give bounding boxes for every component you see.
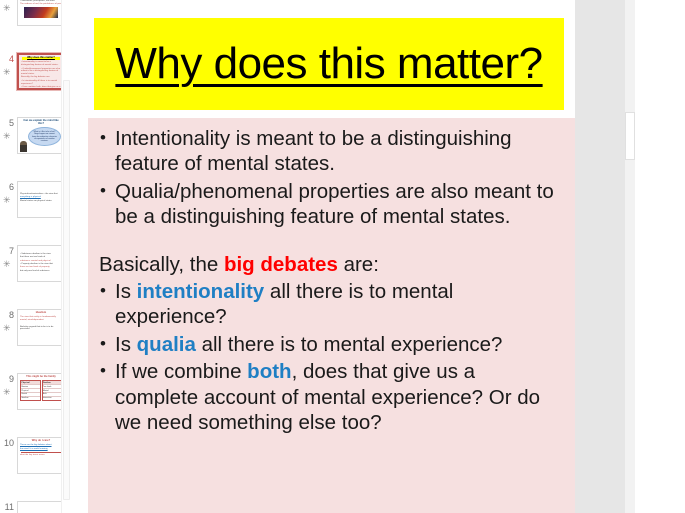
thumbnail-line: The redness of red, the painfulness of p… (20, 3, 62, 6)
list-item: • Qualia/phenomenal properties are also … (98, 179, 561, 230)
slide-number: 5 (2, 118, 14, 128)
bullet-post: all there is to mental experience? (196, 333, 503, 356)
thought-bubble-shape: What is it like to be a bat? Nagel argue… (28, 127, 61, 146)
bullet-marker: • (98, 126, 115, 150)
slide-number: 10 (2, 438, 14, 448)
bullet-pre: Is (115, 280, 137, 303)
thumbnail-image (24, 7, 58, 18)
animation-star-icon[interactable]: ✳ (3, 68, 11, 77)
lead-in-post: are: (338, 253, 379, 276)
slide-thumbnail[interactable]: Idealism The view that reality is fundam… (17, 309, 65, 346)
lead-in-pre: Basically, the (99, 253, 224, 276)
main-scrollbar-track[interactable] (625, 0, 635, 513)
thumbnail-line: The view that reality is fundamentally m… (20, 316, 62, 322)
thumbnail-line: but only one kind of substance (20, 270, 62, 273)
main-scrollbar-thumb[interactable] (625, 112, 635, 160)
table-cell: Interaction (43, 396, 62, 400)
list-item: • Is intentionality all there is to ment… (98, 279, 561, 330)
slide-thumbnail[interactable]: Why does this matter? Intentionality is … (17, 53, 65, 90)
slide-stage: Why does this matter? • Intentionality i… (70, 0, 685, 513)
table-cell: Idealism (21, 396, 40, 400)
thumbnail-content: Qualia What it's like to experience a Se… (18, 0, 64, 25)
thumbnail-table: Physical Monism Physical Mental Idealism… (20, 380, 62, 400)
list-item[interactable]: 11 Let's apply this to an A level Is it … (0, 500, 70, 513)
thumbnail-line: everything is physical (20, 196, 62, 199)
thumbnail-content: This might be the family Physical Monism… (18, 374, 64, 409)
thumbnail-title: Idealism (20, 312, 62, 315)
thumbnail-line: Is intentionality all there is to mental… (21, 80, 61, 86)
slide-number: 8 (2, 310, 14, 320)
list-item[interactable]: 6 ✳ Physicalism/materialism - the view t… (0, 180, 70, 242)
lead-in-highlight: big debates (224, 253, 338, 276)
slide-number: 6 (2, 182, 14, 192)
bullet-text: Is qualia all there is to mental experie… (115, 332, 561, 357)
thumbnail-line: the mind. It is worth knowing (20, 448, 62, 451)
list-item[interactable]: 10 Why do I care? These are the big deba… (0, 436, 70, 498)
list-item[interactable]: 7 ✳ Substance dualism is the view that t… (0, 244, 70, 306)
bullet-pre: Is (115, 333, 137, 356)
bullet-text: Intentionality is meant to be a distingu… (115, 126, 561, 177)
thumbnail-line: there are two kinds of property (20, 266, 62, 269)
presentation-app: 3 ✳ Qualia What it's like to experience … (0, 0, 685, 513)
bullet-marker: • (98, 279, 115, 303)
page-title: Why does this matter? (115, 39, 542, 89)
animation-star-icon[interactable]: ✳ (3, 132, 11, 141)
bullet-marker: • (98, 359, 115, 383)
list-item: • Intentionality is meant to be a distin… (98, 126, 561, 177)
bullet-text: Qualia/phenomenal properties are also me… (115, 179, 561, 230)
slide-body-box[interactable]: • Intentionality is meant to be a distin… (88, 118, 575, 513)
slide-thumbnail[interactable]: Let's apply this to an A level Is it tru… (17, 501, 65, 513)
thumbnail-line: If we combine both, does that give us a … (21, 86, 61, 90)
thumbnail-line: Mental states are physical states (20, 200, 62, 203)
thumbnail-content: Let's apply this to an A level Is it tru… (18, 502, 64, 513)
bullet-highlight: qualia (137, 333, 196, 356)
table-column: Physical Monism Physical Mental Idealism (20, 380, 41, 400)
spacer (98, 232, 561, 252)
thumbnail-content: Can we explain the mind like this? What … (18, 118, 64, 153)
animation-star-icon[interactable]: ✳ (3, 196, 11, 205)
thumbnail-content: Physicalism/materialism - the view that … (18, 182, 64, 217)
bullet-marker: • (98, 179, 115, 203)
list-item[interactable]: 4 ✳ Why does this matter? Intentionality… (0, 52, 70, 114)
list-item: • If we combine both, does that give us … (98, 359, 561, 435)
thumbnail-title: Why do I care? (20, 440, 62, 443)
slide-thumbnail[interactable]: Why do I care? These are the big debates… (17, 437, 65, 474)
bullet-marker: • (98, 332, 115, 356)
slide-thumbnail[interactable]: Can we explain the mind like this? What … (17, 117, 65, 154)
thumbnail-content: Why do I care? These are the big debates… (18, 438, 64, 473)
list-item[interactable]: 3 ✳ Qualia What it's like to experience … (0, 0, 70, 50)
thumbnail-title: This might be the family (20, 376, 62, 379)
thumbnail-line: What is it like to be a bat? Nagel argue… (29, 128, 60, 142)
thumbnail-line: These are the big debates about (20, 444, 62, 447)
list-item: • Is qualia all there is to mental exper… (98, 332, 561, 357)
slide-thumbnail[interactable]: This might be the family Physical Monism… (17, 373, 65, 410)
thumbnail-content: Idealism The view that reality is fundam… (18, 310, 64, 345)
sidebar-scrollbar-track[interactable] (61, 0, 70, 513)
current-slide[interactable]: Why does this matter? • Intentionality i… (70, 0, 575, 513)
thumbnail-line: Intentionality is meant to be a distingu… (21, 61, 61, 67)
list-item[interactable]: 5 ✳ Can we explain the mind like this? W… (0, 116, 70, 178)
thumbnail-line: Berkeley argued that to be is to be perc… (20, 326, 62, 332)
slide-thumbnail-sidebar[interactable]: 3 ✳ Qualia What it's like to experience … (0, 0, 70, 513)
person-image (20, 141, 27, 152)
thumbnail-content: Substance dualism is the view that there… (18, 246, 64, 281)
divider (21, 452, 61, 453)
slide-title-box[interactable]: Why does this matter? (94, 18, 564, 110)
thumbnail-strip: 3 ✳ Qualia What it's like to experience … (0, 0, 70, 513)
thumbnail-line: Qualia/phenomenal properties are also me… (21, 68, 61, 76)
animation-star-icon[interactable]: ✳ (3, 4, 11, 13)
thumbnail-line: Basically, the big debates are: (21, 76, 61, 79)
animation-star-icon[interactable]: ✳ (3, 324, 11, 333)
bullet-text: Is intentionality all there is to mental… (115, 279, 561, 330)
slide-number: 9 (2, 374, 14, 384)
slide-thumbnail[interactable]: Qualia What it's like to experience a Se… (17, 0, 65, 26)
slide-number: 11 (2, 502, 14, 512)
thumbnail-title: Can we explain the mind like this? (20, 120, 62, 126)
bullet-pre: If we combine (115, 360, 247, 383)
animation-star-icon[interactable]: ✳ (3, 388, 11, 397)
bullet-highlight: intentionality (137, 280, 265, 303)
list-item[interactable]: 9 ✳ This might be the family Physical Mo… (0, 372, 70, 434)
right-gutter (575, 0, 635, 513)
slide-thumbnail[interactable]: Substance dualism is the view that there… (17, 245, 65, 282)
table-column: Dualism Two kinds Mental Both Interactio… (42, 380, 63, 400)
thumbnail-content: Why does this matter? Intentionality is … (19, 55, 63, 88)
bullet-text: If we combine both, does that give us a … (115, 359, 561, 435)
slide-thumbnail[interactable]: Physicalism/materialism - the view that … (17, 181, 65, 218)
list-item[interactable]: 8 ✳ Idealism The view that reality is fu… (0, 308, 70, 370)
slide-number: 4 (2, 54, 14, 64)
animation-star-icon[interactable]: ✳ (3, 260, 11, 269)
thumbnail-line: that there are two kinds of (20, 256, 62, 259)
bullet-highlight: both (247, 360, 291, 383)
thumbnail-title: Why does this matter? (22, 57, 60, 60)
sidebar-scrollbar-thumb[interactable] (63, 80, 70, 500)
lead-in-line: Basically, the big debates are: (98, 252, 561, 277)
thumbnail-line: what the key terms mean. (20, 454, 62, 457)
slide-number: 7 (2, 246, 14, 256)
